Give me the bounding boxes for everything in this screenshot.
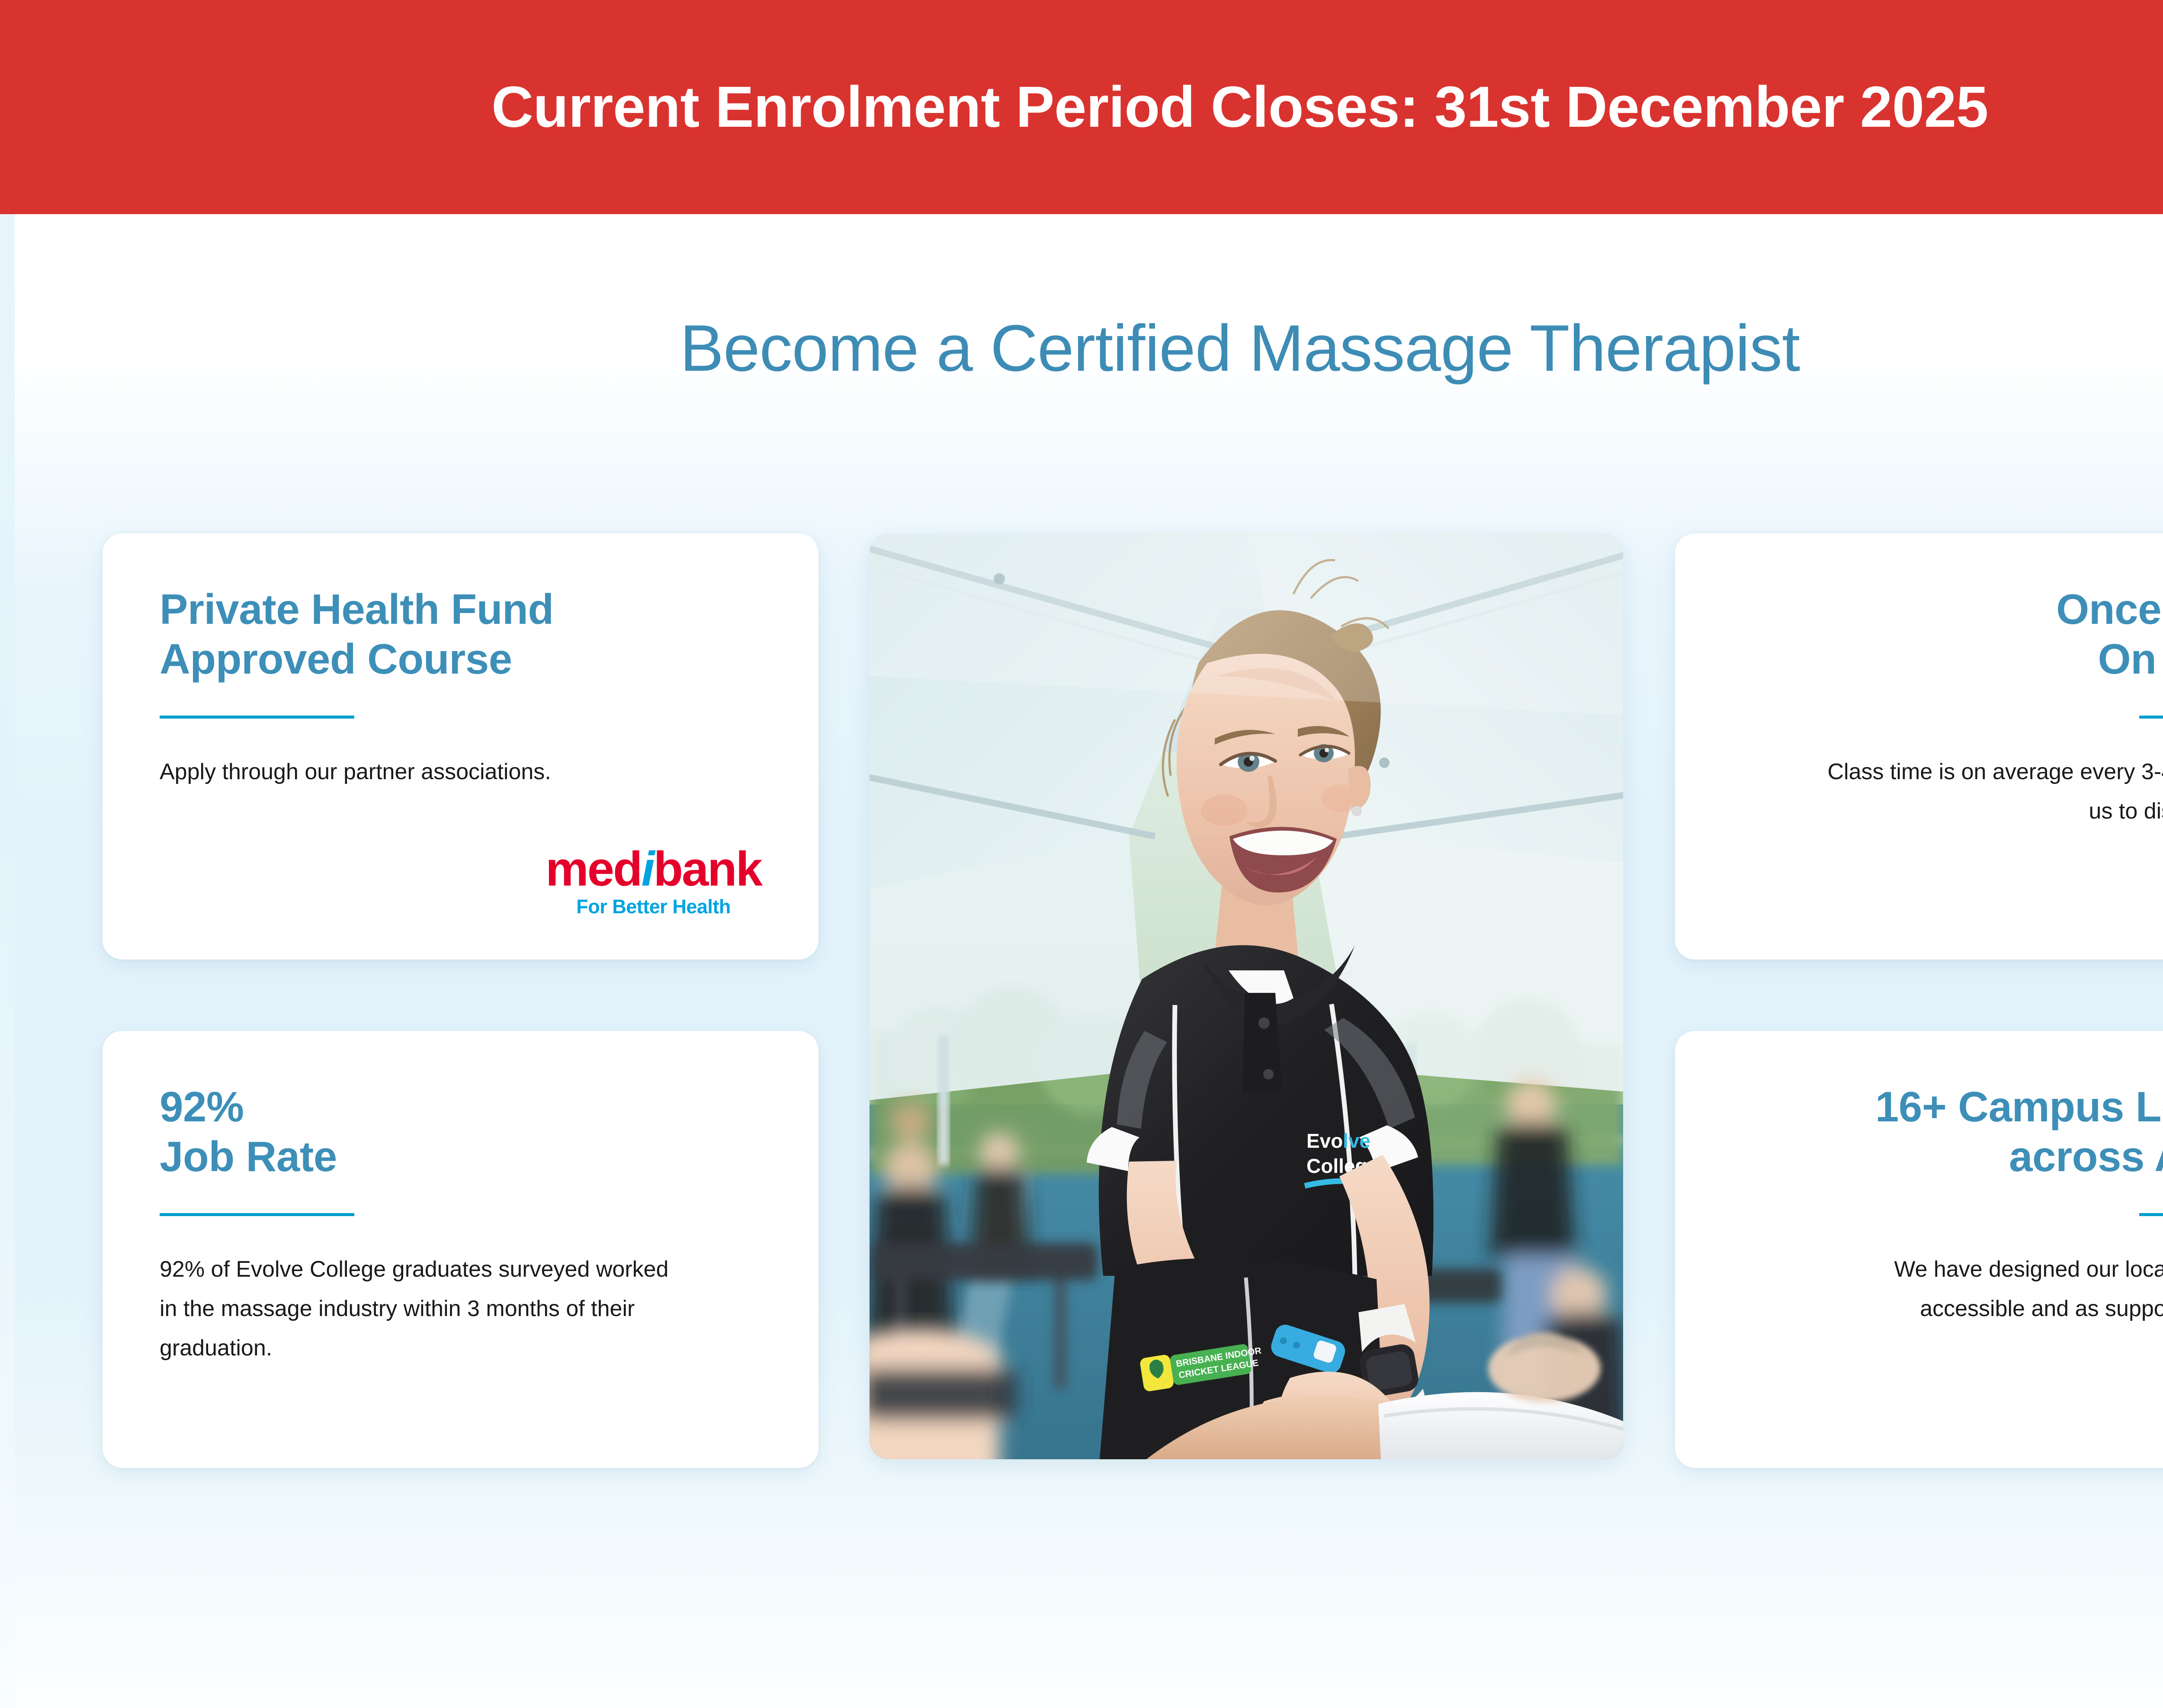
- card-heading-line-2: On Campus: [2056, 634, 2163, 684]
- card-divider: [2139, 1213, 2163, 1216]
- card-body-job-rate: 92% of Evolve College graduates surveyed…: [160, 1250, 692, 1368]
- card-heading-line-1: Private Health Fund: [160, 584, 761, 634]
- medibank-logo: medibank For Better Health: [546, 845, 761, 916]
- feature-cards-grid: Private Health Fund Approved Course Appl…: [103, 533, 2163, 1468]
- card-heading-private-health-fund: Private Health Fund Approved Course: [160, 584, 761, 684]
- page-background-left-edge: [0, 214, 15, 1708]
- card-heading-line-1: Once a Month: [2056, 584, 2163, 634]
- card-heading-line-2: across Australia: [1875, 1132, 2163, 1181]
- card-private-health-fund[interactable]: Private Health Fund Approved Course Appl…: [103, 533, 818, 960]
- card-campus-locations[interactable]: 16+ Campus Locations across Australia We…: [1675, 1031, 2163, 1468]
- card-heading-campus-locations: 16+ Campus Locations across Australia: [1875, 1082, 2163, 1181]
- card-body-once-a-month: Class time is on average every 3-4 weeks…: [1802, 752, 2163, 831]
- card-once-a-month-on-campus[interactable]: Once a Month On Campus Class time is on …: [1675, 533, 2163, 960]
- medibank-word-i: i: [641, 842, 653, 896]
- card-heading-line-1: 92%: [160, 1082, 761, 1132]
- card-heading-job-rate: 92% Job Rate: [160, 1082, 761, 1181]
- page-title: Become a Certified Massage Therapist: [0, 311, 2163, 385]
- enrolment-banner: Current Enrolment Period Closes: 31st De…: [0, 0, 2163, 214]
- card-heading-line-1: 16+ Campus Locations: [1875, 1082, 2163, 1132]
- card-heading-line-2: Approved Course: [160, 634, 761, 684]
- card-divider: [2139, 716, 2163, 719]
- card-body-campus-locations: We have designed our locations to be eas…: [1802, 1250, 2163, 1329]
- card-body-private-health-fund: Apply through our partner associations.: [160, 752, 692, 792]
- card-divider: [160, 1213, 354, 1216]
- medibank-tagline: For Better Health: [546, 897, 761, 916]
- medibank-wordmark: medibank: [546, 845, 761, 893]
- medibank-word-med: med: [546, 842, 641, 896]
- card-divider: [160, 716, 354, 719]
- enrolment-banner-text: Current Enrolment Period Closes: 31st De…: [491, 78, 1988, 136]
- card-heading-once-a-month: Once a Month On Campus: [2056, 584, 2163, 684]
- card-job-rate[interactable]: 92% Job Rate 92% of Evolve College gradu…: [103, 1031, 818, 1468]
- card-heading-line-2: Job Rate: [160, 1132, 761, 1181]
- medibank-word-bank: bank: [654, 842, 761, 896]
